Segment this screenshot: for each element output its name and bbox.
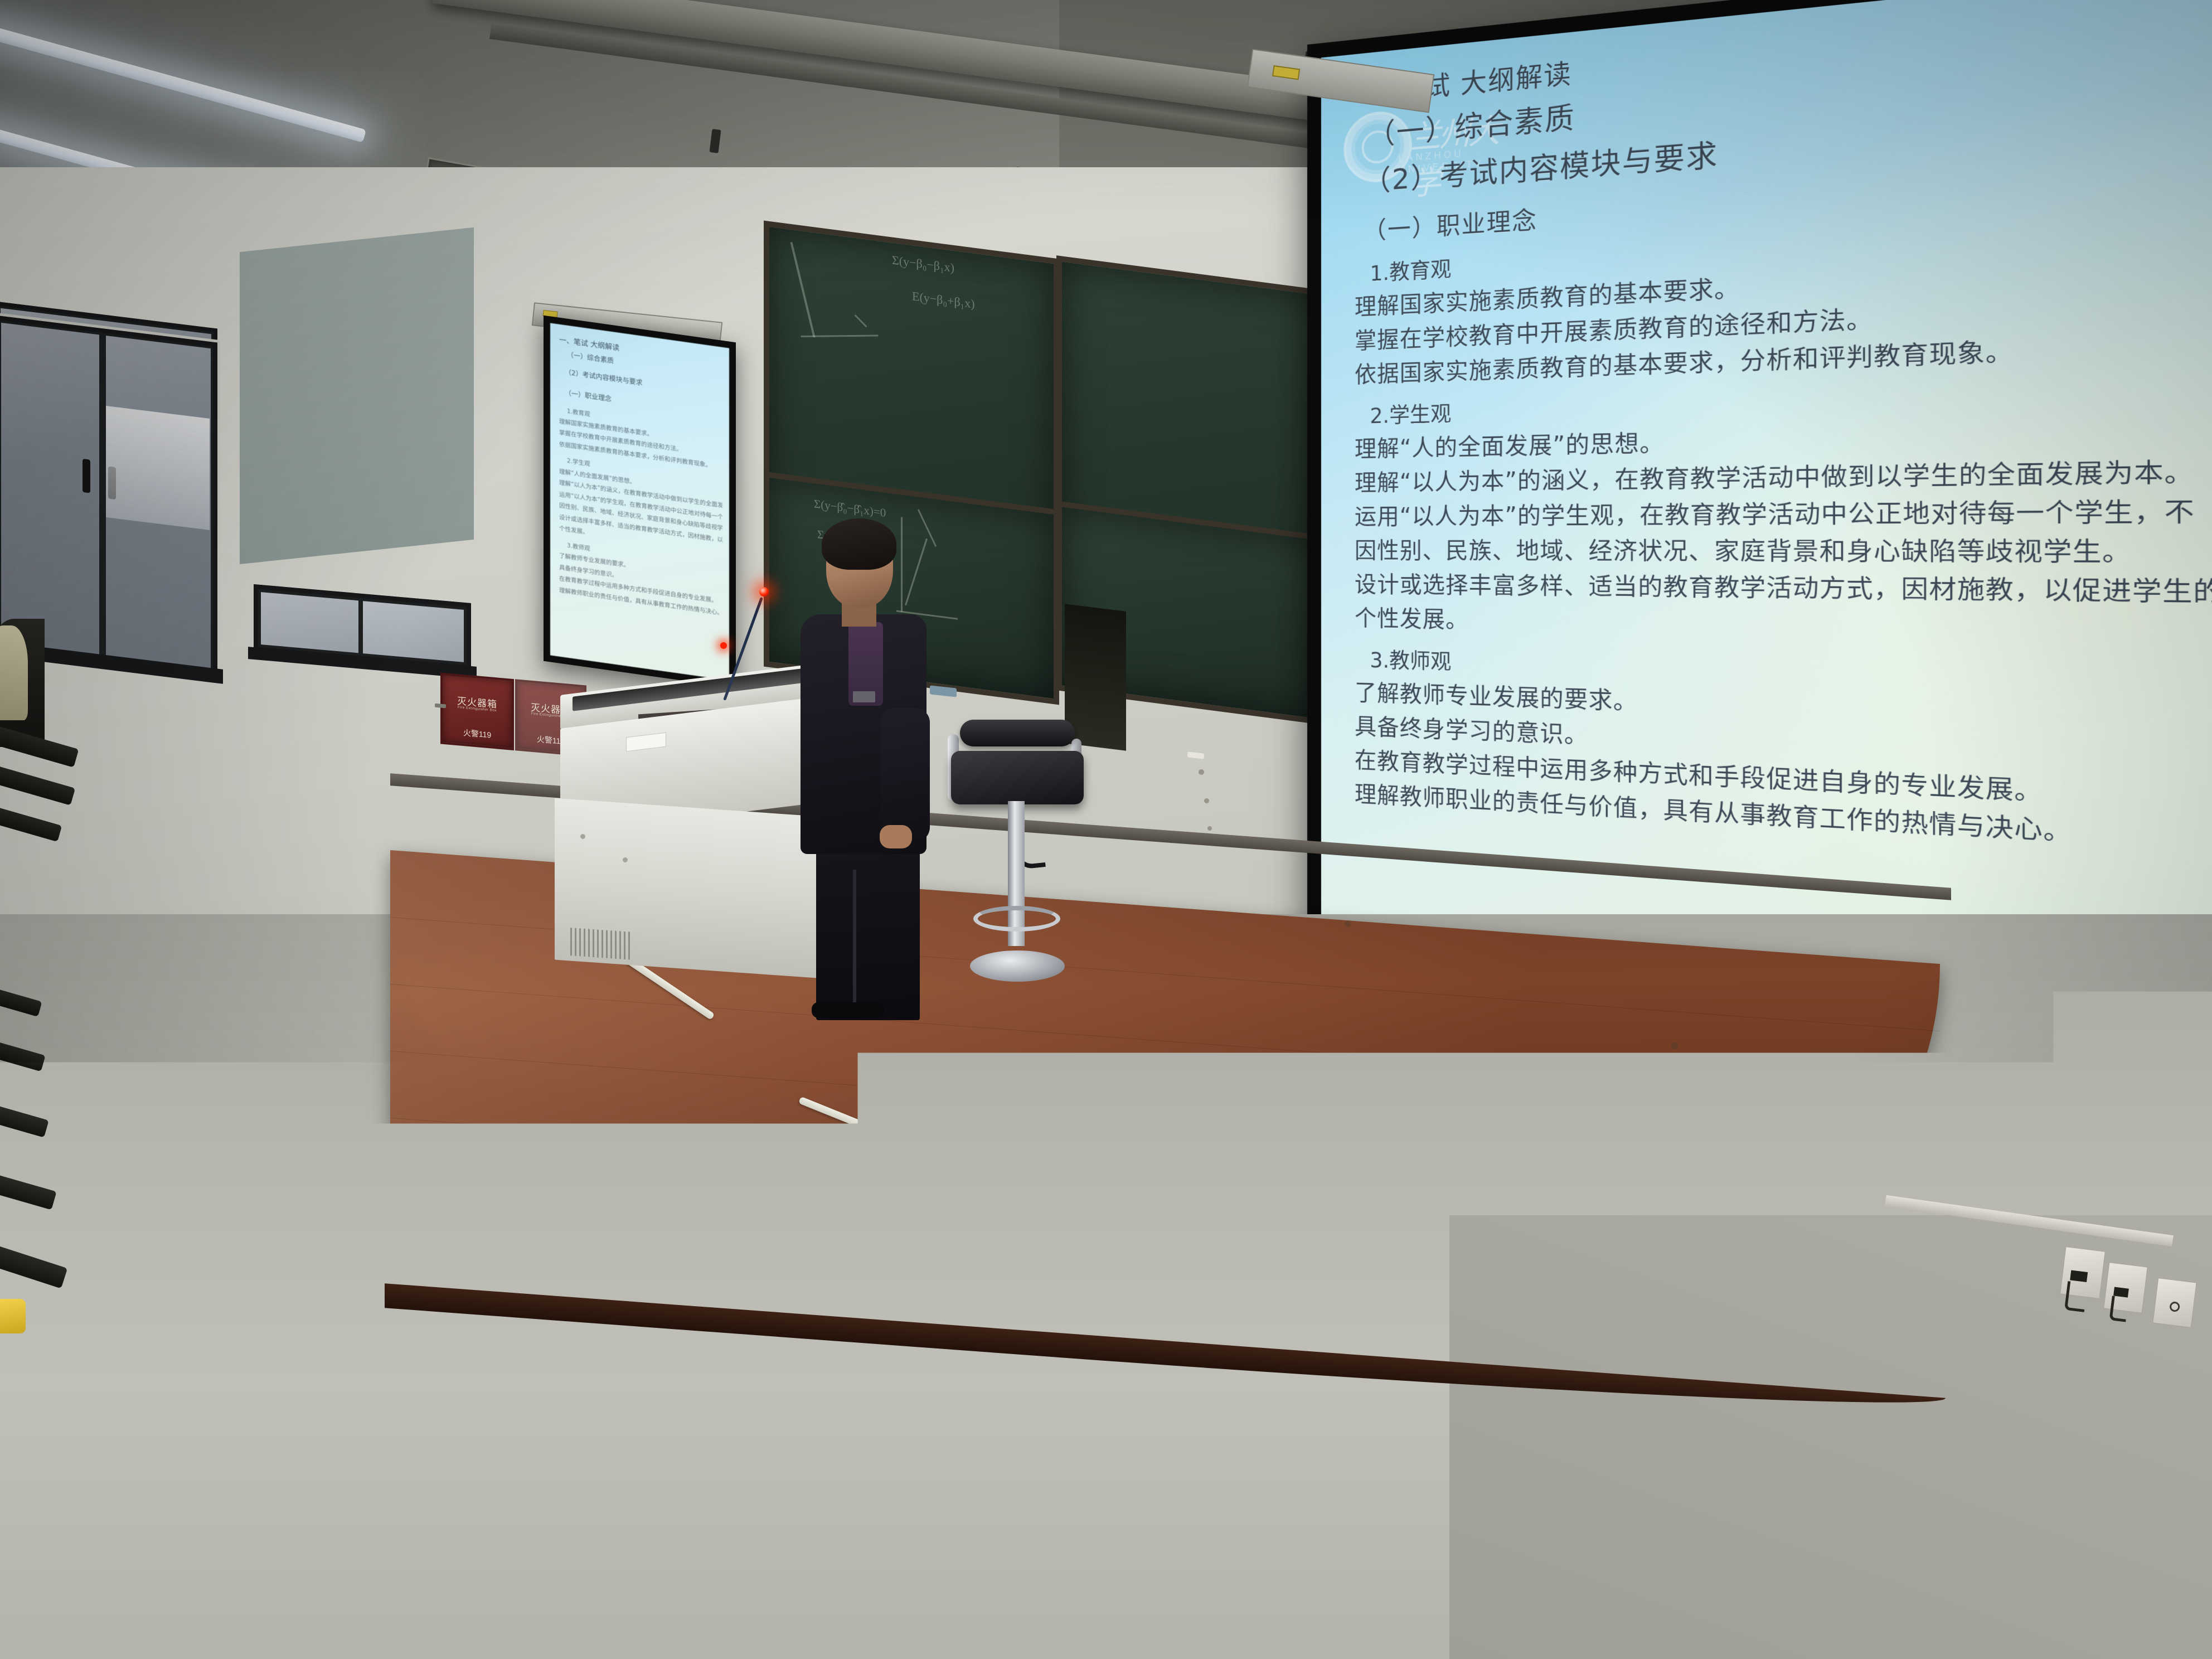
bar-stool[interactable] xyxy=(948,716,1087,1006)
housing-label xyxy=(1272,65,1300,80)
jack-cable xyxy=(2064,1281,2088,1312)
stool-backrest xyxy=(960,720,1075,746)
wall-panel xyxy=(240,227,474,564)
jack-cable xyxy=(2109,1296,2128,1322)
presenter xyxy=(797,524,931,1015)
presenter-badge xyxy=(853,691,875,702)
presenter-hand xyxy=(880,825,912,848)
secondary-slide-content: 一、笔试 大纲解读 （一）综合素质 （2）考试内容模块与要求 （一）职业理念 1… xyxy=(550,323,729,680)
stool-seat[interactable] xyxy=(951,751,1084,804)
fire-cabinet-door[interactable]: 灭火器箱 Fire Extinguisher Box 火警119 xyxy=(440,673,514,751)
presenter-legs xyxy=(816,836,920,1020)
window-reflection xyxy=(106,406,210,530)
window-handle[interactable] xyxy=(83,459,90,493)
chalk-note: Σ(y−β̂₀−β̂₁x)=0 xyxy=(814,497,886,520)
presenter-hair xyxy=(822,518,896,570)
fire-emergency-number: 火警119 xyxy=(443,725,512,743)
screen-status-led xyxy=(720,642,727,649)
coax-jack[interactable] xyxy=(2152,1278,2196,1328)
lecture-hall-photo: Σ(y−β₀−β₁x) E(y−β₀+β₁x) Σ(y−β̂₀−β̂₁x)=0 … xyxy=(0,0,2212,1659)
secondary-projection-screen: 一、笔试 大纲解读 （一）综合素质 （2）考试内容模块与要求 （一）职业理念 1… xyxy=(544,316,736,688)
presenter-arm xyxy=(881,708,930,842)
cabinet-screw xyxy=(623,857,628,862)
slide-body-line: 因性别、民族、地域、经济状况、家庭背景和身心缺陷等歧视学生。 xyxy=(1355,530,2212,570)
green-object[interactable] xyxy=(0,1611,50,1656)
slide-body-line: 个性发展。 xyxy=(1355,600,2212,651)
cabinet-screw xyxy=(580,834,585,839)
presenter-shoe xyxy=(812,1002,884,1018)
chalk-note: Σ(y−β₀−β₁x) xyxy=(892,253,954,275)
stool-base xyxy=(970,950,1065,982)
microphone-status-led xyxy=(759,587,769,596)
chalk-note: E(y−β₀+β₁x) xyxy=(912,289,975,312)
stool-footrest-ring xyxy=(973,906,1060,932)
power-outlet[interactable] xyxy=(1844,1161,1900,1216)
yellow-object[interactable] xyxy=(0,1299,26,1333)
seat-cushion[interactable] xyxy=(0,625,28,720)
cabinet-vent-icon xyxy=(570,928,632,960)
